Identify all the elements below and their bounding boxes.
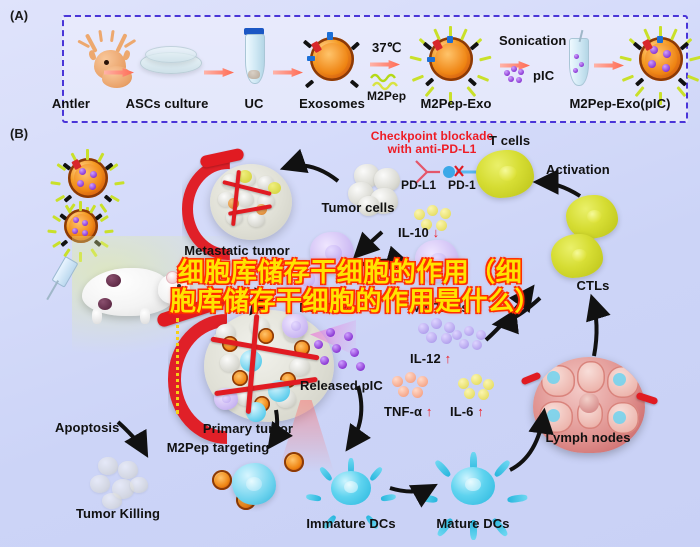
panel-a-step-label-uc: UC bbox=[245, 96, 264, 111]
m2pep-exosome-pic-icon bbox=[628, 26, 694, 92]
cytokine-name-il-10: IL-10 bbox=[398, 225, 429, 240]
m2pep-exosome-icon bbox=[418, 26, 484, 92]
arrow-pic-to-immature-dc bbox=[348, 386, 361, 448]
t-cell-icon bbox=[476, 150, 534, 198]
label-m1-tams: M1-TAMs bbox=[411, 300, 469, 315]
sonication-tube-icon bbox=[567, 30, 589, 86]
label-m2pep-targeting: M2Pep targeting bbox=[167, 440, 270, 455]
panel-a-tag: (A) bbox=[10, 8, 28, 23]
label-primary-tumor: Primary tumor bbox=[203, 421, 293, 436]
cytokine-name-il-6: IL-6 bbox=[450, 404, 474, 419]
panel-a-step-label-antler: Antler bbox=[52, 96, 90, 111]
free-exosome-icon-1 bbox=[58, 148, 118, 208]
cytokine-arrow-il-12: ↑ bbox=[445, 351, 452, 366]
cytokine-label-il-6: IL-6 ↑ bbox=[450, 404, 484, 419]
label-mature-dcs: Mature DCs bbox=[436, 516, 509, 531]
panel-b-tag: (B) bbox=[10, 126, 28, 141]
cytokine-name-tnf-a: TNF-α bbox=[384, 404, 422, 419]
reaction-label-temperature: 37℃ bbox=[372, 40, 401, 56]
label-tumor-cells: Tumor cells bbox=[321, 200, 394, 215]
cytokine-dots-il12 bbox=[452, 326, 494, 352]
arrow-apoptosis bbox=[118, 422, 146, 454]
arrow-activation bbox=[537, 182, 580, 196]
panel-a-step-label-m2pep-exo: M2Pep-Exo bbox=[421, 96, 492, 111]
arrow-ctl-to-tumor bbox=[496, 298, 540, 324]
label-released-pic: Released pIC bbox=[300, 378, 383, 393]
ctl-cell-icon-2 bbox=[551, 234, 603, 278]
label-ctls: CTLs bbox=[577, 278, 610, 293]
target-macrophage-icon bbox=[218, 455, 288, 513]
arrow-lymph-to-ctl bbox=[592, 298, 597, 356]
label-pd-l1: PD-L1 bbox=[401, 178, 436, 192]
reaction-label-pic: pIC bbox=[533, 68, 554, 83]
released-pic-dots bbox=[310, 328, 372, 376]
cytokine-label-il-12: IL-12 ↑ bbox=[410, 351, 451, 366]
figure-canvas: (A) Antler ASCs culture UC Ex bbox=[0, 0, 700, 547]
exosome-icon bbox=[305, 32, 359, 86]
deer-icon bbox=[82, 30, 146, 88]
reaction-label-sonication: Sonication bbox=[499, 33, 566, 48]
ctl-cell-icon-1 bbox=[566, 195, 618, 239]
immature-dc-icon bbox=[316, 458, 386, 518]
cytokine-dots-tnfa bbox=[392, 372, 434, 398]
cytokine-dots-il6 bbox=[458, 374, 500, 400]
m1-tam-icon-1 bbox=[415, 240, 459, 282]
cytokine-arrow-il-10: ↓ bbox=[433, 225, 440, 240]
label-activation: Activation bbox=[546, 162, 610, 177]
mature-dc-icon bbox=[434, 452, 512, 520]
label-lymph-nodes: Lymph nodes bbox=[545, 430, 630, 445]
arrow-il10-to-m2tam bbox=[356, 232, 382, 256]
petri-dish-lid-icon bbox=[145, 46, 197, 63]
panel-a-step-label-exosomes: Exosomes bbox=[299, 96, 365, 111]
cytokine-label-tnf-a: TNF-α ↑ bbox=[384, 404, 432, 419]
arrow-immature-to-mature-dc bbox=[390, 486, 434, 492]
label-t-cells: T cells bbox=[489, 133, 530, 148]
m2-tam-icon-2 bbox=[286, 260, 326, 298]
label-checkpoint-blockade-line1: Checkpoint blockade bbox=[371, 129, 494, 143]
label-apoptosis: Apoptosis bbox=[55, 420, 119, 435]
cytokine-arrow-tnf-a: ↑ bbox=[426, 404, 433, 419]
centrifuge-tube-icon bbox=[243, 28, 265, 86]
panel-a-step-label-m2pep-exo-pic: M2Pep-Exo(pIC) bbox=[569, 96, 670, 111]
cytokine-arrow-il-6: ↑ bbox=[477, 404, 484, 419]
cytokine-name-il-12: IL-12 bbox=[410, 351, 441, 366]
label-pd-1: PD-1 bbox=[448, 178, 476, 192]
label-checkpoint-blockade-line2: with anti-PD-L1 bbox=[388, 142, 477, 156]
label-metastatic-tumor: Metastatic tumor bbox=[184, 243, 290, 258]
reaction-label-peptide: M2Pep bbox=[367, 89, 406, 103]
tumor-killing-icon bbox=[88, 455, 152, 511]
label-immature-dcs: Immature DCs bbox=[306, 516, 395, 531]
pic-cluster-icon bbox=[504, 66, 530, 84]
label-tumor-killing: Tumor Killing bbox=[76, 506, 160, 521]
cytokine-label-il-10: IL-10 ↓ bbox=[398, 225, 439, 240]
arrow-m2-to-m1 bbox=[352, 261, 408, 268]
panel-a-step-label-asc-culture: ASCs culture bbox=[126, 96, 209, 111]
